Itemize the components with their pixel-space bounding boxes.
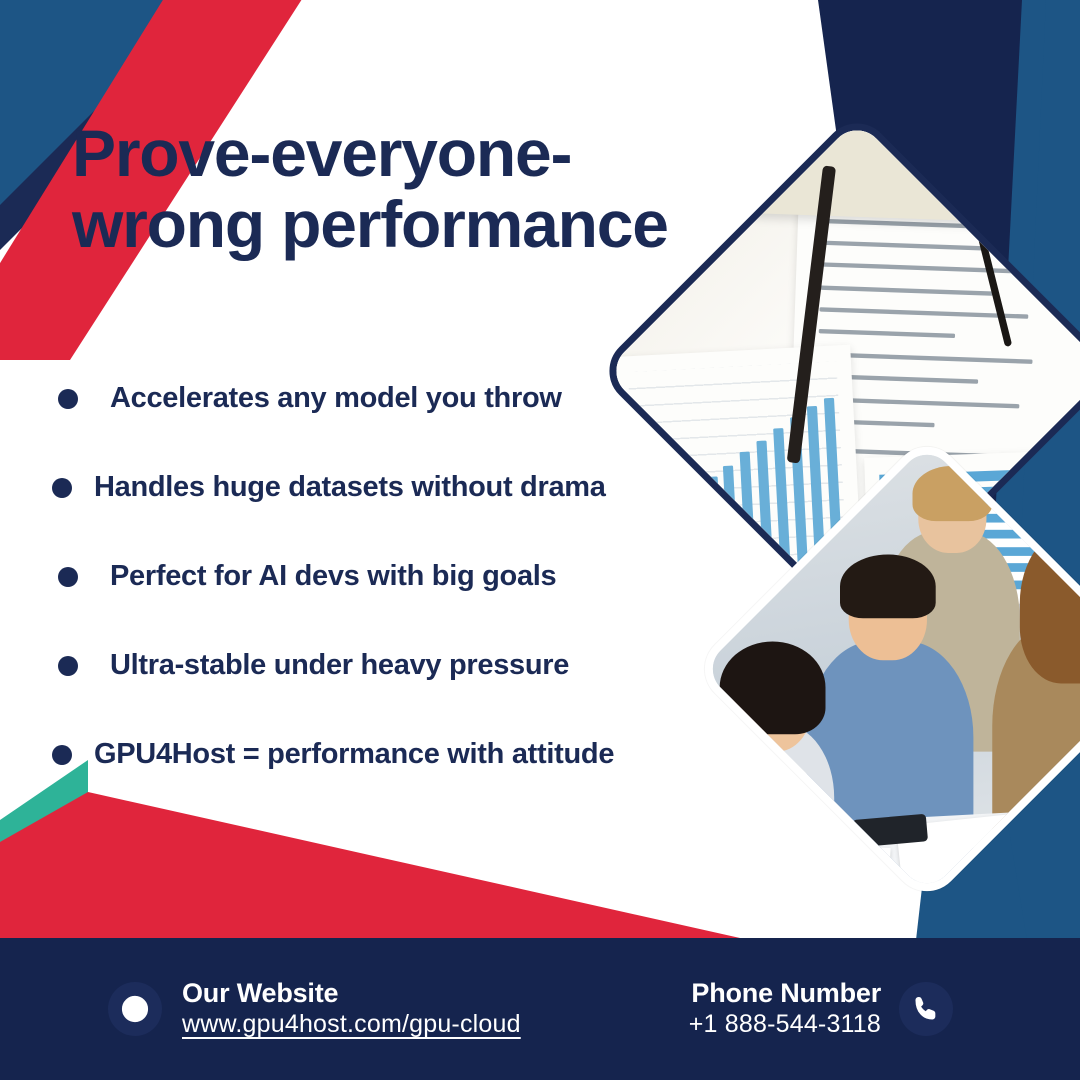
bullet-item-5: GPU4Host = performance with attitude — [52, 738, 752, 771]
bullet-item-2: Handles huge datasets without drama — [52, 471, 752, 504]
bullet-label-2: Handles huge datasets without drama — [94, 471, 606, 504]
feature-bullet-list: Accelerates any model you throw Handles … — [52, 382, 752, 771]
headline-line-1: Prove-everyone- — [72, 118, 772, 189]
footer: Our Website www.gpu4host.com/gpu-cloud P… — [0, 938, 1080, 1080]
bullet-dot-icon — [58, 656, 78, 676]
bullet-dot-icon — [52, 745, 72, 765]
poster-canvas: Prove-everyone- wrong performance Accele… — [0, 0, 1080, 1080]
website-url[interactable]: www.gpu4host.com/gpu-cloud — [182, 1009, 521, 1040]
bullet-dot-icon — [58, 389, 78, 409]
bullet-label-3: Perfect for AI devs with big goals — [110, 560, 556, 593]
website-title: Our Website — [182, 978, 521, 1009]
bullet-label-5: GPU4Host = performance with attitude — [94, 738, 614, 771]
bullet-item-4: Ultra-stable under heavy pressure — [58, 649, 752, 682]
phone-number[interactable]: +1 888-544-3118 — [689, 1009, 881, 1040]
phone-contact-block[interactable]: Phone Number +1 888-544-3118 — [669, 978, 953, 1040]
website-contact-block[interactable]: Our Website www.gpu4host.com/gpu-cloud — [108, 978, 521, 1040]
bullet-label-1: Accelerates any model you throw — [110, 382, 562, 415]
headline: Prove-everyone- wrong performance — [72, 118, 772, 259]
bullet-dot-icon — [58, 567, 78, 587]
bullet-item-3: Perfect for AI devs with big goals — [58, 560, 752, 593]
phone-title: Phone Number — [689, 978, 881, 1009]
person-center-hair — [839, 554, 936, 619]
globe-icon — [108, 982, 162, 1036]
bullet-label-4: Ultra-stable under heavy pressure — [110, 649, 569, 682]
bullet-dot-icon — [52, 478, 72, 498]
bullet-item-1: Accelerates any model you throw — [58, 382, 752, 415]
phone-icon — [899, 982, 953, 1036]
headline-line-2: wrong performance — [72, 189, 772, 260]
